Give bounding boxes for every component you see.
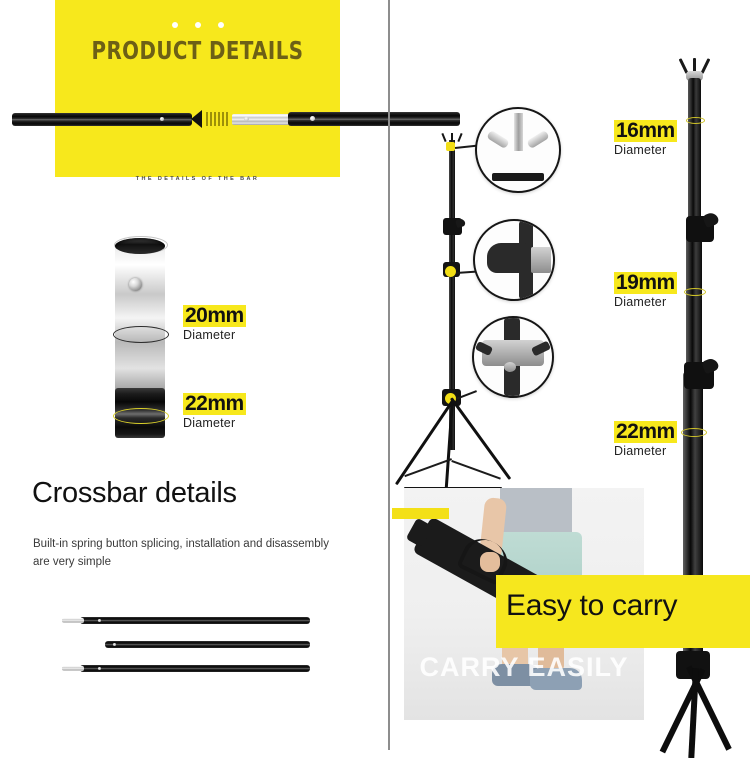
spring-button-icon — [129, 278, 142, 291]
callout-16mm: 16mm Diameter — [614, 120, 677, 157]
person-shirt — [500, 488, 572, 538]
hero-dot-2 — [195, 22, 201, 28]
spring-button-icon — [310, 116, 315, 121]
hub-rivet-icon — [504, 362, 516, 372]
callout-label: Diameter — [614, 143, 677, 157]
crossbar-rod-3 — [80, 665, 310, 672]
callout-label: Diameter — [614, 295, 677, 309]
rod-connector-icon — [62, 666, 84, 671]
hero-yellow-panel: PRODUCT DETAILS — [55, 0, 340, 177]
hero-subtitle: THE DETAILS OF THE BAR — [55, 176, 340, 182]
spring-button-icon — [98, 619, 101, 622]
callout-label: Diameter — [183, 416, 246, 430]
pole-collar-icon — [531, 247, 551, 273]
stand-clamp-upper — [443, 218, 462, 235]
callout-dot-top — [446, 142, 455, 151]
diameter-ring-22mm — [113, 408, 169, 424]
callout-value: 22mm — [183, 393, 246, 415]
pole-leg-3 — [688, 668, 699, 758]
callout-value: 16mm — [614, 120, 677, 142]
callout-22mm: 22mm Diameter — [183, 393, 246, 430]
splice-bar-left-segment — [12, 113, 192, 126]
callout-dot-middle — [445, 266, 456, 277]
pole-section-16mm — [688, 78, 701, 224]
spring-button-icon — [113, 643, 116, 646]
spigot-arm-right-icon — [526, 130, 549, 149]
diameter-ring-22mm — [681, 428, 707, 437]
splice-bar-right-segment — [288, 112, 460, 126]
panel-divider — [388, 0, 390, 750]
product-detail-page: PRODUCT DETAILS THE DETAILS OF THE BAR 2… — [0, 0, 750, 750]
callout-label: Diameter — [614, 444, 677, 458]
stand-leg-2 — [450, 397, 511, 480]
lock-lever-icon — [487, 243, 529, 273]
callout-label: Diameter — [183, 328, 246, 342]
stand-brace-1 — [451, 460, 501, 480]
callout-19mm: 19mm Diameter — [614, 272, 677, 309]
carry-photo-caption: CARRY EASILY — [404, 652, 644, 683]
callout-value: 20mm — [183, 305, 246, 327]
easy-to-carry-label: Easy to carry — [506, 589, 750, 623]
spigot-shaft-icon — [514, 113, 523, 151]
crossbar-section-title: Crossbar details — [32, 477, 237, 510]
spring-button-icon — [98, 667, 101, 670]
page-title: PRODUCT DETAILS — [72, 36, 323, 65]
spigot-base-icon — [492, 173, 544, 181]
hero-dot-3 — [218, 22, 224, 28]
diameter-ring-16mm — [686, 117, 705, 124]
spigot-arm-left-icon — [486, 130, 509, 149]
motion-streaks — [204, 112, 230, 126]
pole-section-19mm — [686, 224, 702, 374]
callout-22mm-pole: 22mm Diameter — [614, 421, 677, 458]
hero-dots — [55, 22, 340, 28]
carry-accent-bar — [392, 508, 449, 519]
pole-clamp-lower — [684, 362, 714, 389]
button-hole-icon — [244, 117, 249, 121]
crossbar-description: Built-in spring button splicing, install… — [33, 535, 333, 572]
tube-opening — [115, 238, 165, 254]
tube-silver-section — [115, 244, 165, 392]
spring-button-icon — [160, 117, 164, 121]
diameter-ring-20mm — [113, 326, 169, 343]
person-hand — [480, 552, 500, 572]
tube-cutaway-illustration — [115, 232, 169, 437]
callout-value: 22mm — [614, 421, 677, 443]
pole-clamp-upper — [686, 216, 714, 242]
left-arrow-icon — [191, 110, 205, 128]
diameter-ring-19mm — [684, 288, 706, 296]
magnifier-leg-hub — [472, 316, 554, 398]
crossbar-rod-1 — [80, 617, 310, 624]
hero-dot-1 — [172, 22, 178, 28]
crossbar-rod-2 — [105, 641, 310, 648]
callout-value: 19mm — [614, 272, 677, 294]
magnifier-top-mount — [475, 107, 561, 193]
magnifier-mid-clamp — [473, 219, 555, 301]
rod-connector-icon — [62, 618, 84, 623]
callout-20mm: 20mm Diameter — [183, 305, 246, 342]
splice-sleeve — [232, 114, 290, 125]
